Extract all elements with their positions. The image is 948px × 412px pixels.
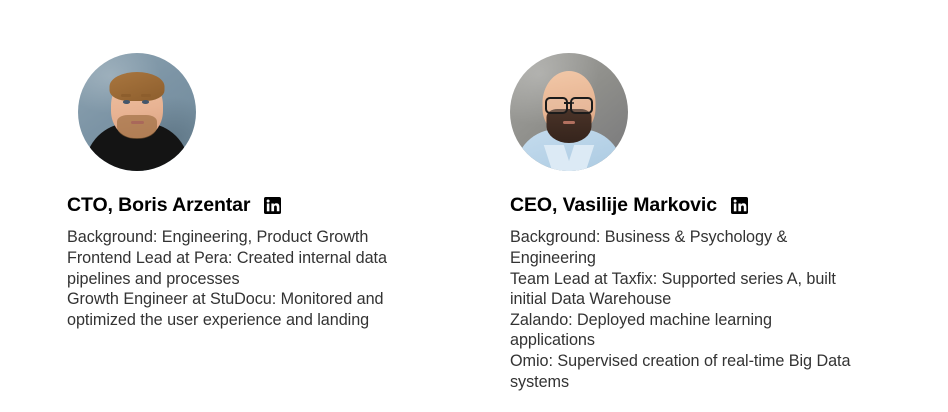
avatar-vasilije-markovic xyxy=(510,53,628,171)
portrait-image-boris xyxy=(78,53,196,171)
name-row-ceo: CEO, Vasilije Markovic xyxy=(510,194,910,217)
glasses-lens-right xyxy=(570,97,593,114)
profile-bio-cto: Background: Engineering, Product Growth … xyxy=(67,227,412,330)
portrait-glasses xyxy=(545,97,593,110)
team-profiles-section: CTO, Boris Arzentar Background: Engineer… xyxy=(0,0,948,412)
portrait-beard xyxy=(117,115,157,139)
portrait-image-vasilije xyxy=(510,53,628,171)
linkedin-icon[interactable] xyxy=(264,197,281,214)
portrait-mouth xyxy=(563,121,575,124)
glasses-lens-left xyxy=(545,97,568,114)
portrait-eyebrow-left xyxy=(121,94,131,97)
profile-card-ceo: CEO, Vasilije Markovic Background: Busin… xyxy=(510,0,910,392)
person-name-cto: CTO, Boris Arzentar xyxy=(67,194,250,217)
linkedin-icon[interactable] xyxy=(731,197,748,214)
portrait-mouth xyxy=(131,121,144,124)
name-row-cto: CTO, Boris Arzentar xyxy=(67,194,467,217)
portrait-hair xyxy=(110,72,165,101)
profile-card-cto: CTO, Boris Arzentar Background: Engineer… xyxy=(67,0,467,330)
avatar-boris-arzentar xyxy=(78,53,196,171)
portrait-eye-right xyxy=(142,100,149,104)
portrait-beard xyxy=(547,109,592,143)
person-name-ceo: CEO, Vasilije Markovic xyxy=(510,194,717,217)
profile-bio-ceo: Background: Business & Psychology & Engi… xyxy=(510,227,860,392)
portrait-eyebrow-right xyxy=(141,94,151,97)
portrait-eye-left xyxy=(123,100,130,104)
